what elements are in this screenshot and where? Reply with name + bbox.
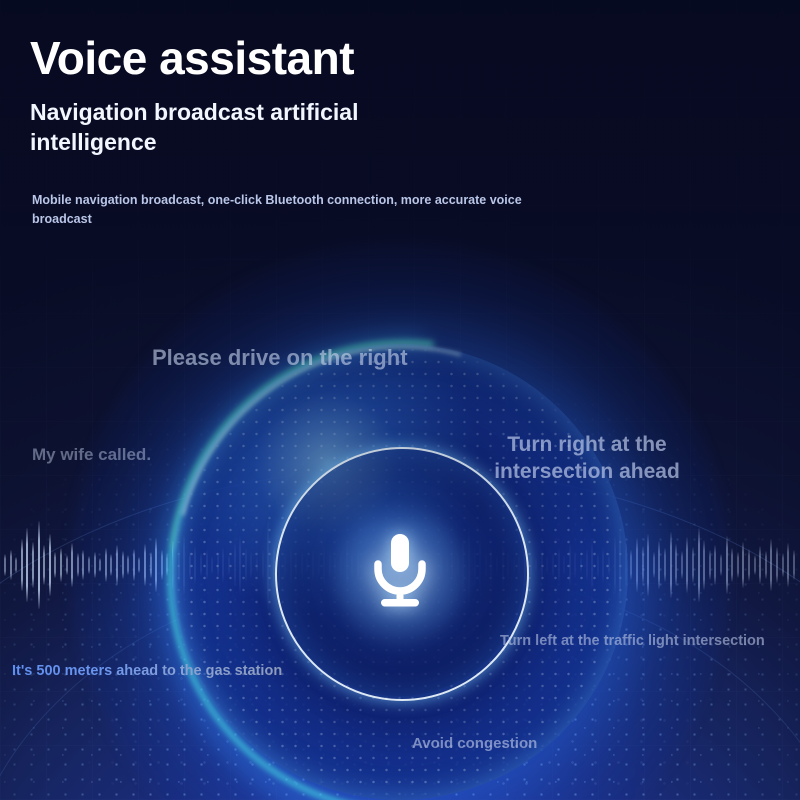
waveform-bar bbox=[194, 546, 196, 584]
waveform-bar bbox=[457, 554, 459, 576]
waveform-bar bbox=[468, 524, 470, 606]
caption-gas-station: It's 500 meters ahead to the gas station bbox=[12, 663, 282, 679]
waveform-bar bbox=[318, 554, 320, 576]
page-subtitle: Navigation broadcast artificial intellig… bbox=[30, 97, 390, 158]
waveform-bar bbox=[530, 554, 532, 576]
waveform-bar bbox=[54, 552, 56, 578]
waveform-bar bbox=[625, 543, 627, 587]
waveform-bar bbox=[161, 550, 163, 580]
waveform-bar bbox=[99, 558, 101, 572]
waveform-bar bbox=[122, 551, 124, 579]
caption-turn-left: Turn left at the traffic light intersect… bbox=[500, 633, 765, 649]
waveform-bar bbox=[726, 536, 728, 594]
caption-avoid-congestion: Avoid congestion bbox=[412, 735, 537, 752]
waveform-bar bbox=[681, 551, 683, 579]
waveform-bar bbox=[513, 557, 515, 573]
waveform-bar bbox=[462, 535, 464, 595]
waveform-bar bbox=[602, 547, 604, 583]
waveform-bar bbox=[200, 554, 202, 576]
waveform-bar bbox=[306, 557, 308, 573]
waveform-bar bbox=[686, 537, 688, 593]
waveform-bar bbox=[535, 558, 537, 572]
waveform-bar bbox=[440, 551, 442, 579]
waveform-right bbox=[0, 500, 800, 630]
waveform-bar bbox=[793, 550, 795, 580]
waveform-bar bbox=[273, 544, 275, 586]
caption-drive-right: Please drive on the right bbox=[152, 345, 408, 371]
waveform-bar bbox=[357, 549, 359, 581]
waveform-bar bbox=[312, 548, 314, 582]
caption-wife-called: My wife called. bbox=[32, 445, 151, 465]
waveform-bar bbox=[720, 554, 722, 576]
waveform-bar bbox=[43, 545, 45, 585]
waveform-bar bbox=[172, 541, 174, 589]
waveform-bar bbox=[217, 552, 219, 578]
waveform-bar bbox=[189, 551, 191, 579]
waveform-bar bbox=[490, 547, 492, 583]
waveform-bar bbox=[256, 557, 258, 573]
waveform-bar bbox=[150, 552, 152, 578]
waveform-bar bbox=[591, 542, 593, 588]
particle-globe-field bbox=[0, 352, 800, 800]
waveform-bar bbox=[77, 553, 79, 577]
voice-assistant-banner: Please drive on the right My wife called… bbox=[0, 0, 800, 800]
waveform-bar bbox=[323, 545, 325, 585]
waveform-bar bbox=[284, 553, 286, 577]
waveform-bar bbox=[234, 543, 236, 587]
waveform-bar bbox=[546, 556, 548, 574]
waveform-bar bbox=[60, 548, 62, 582]
waveform-bar bbox=[4, 554, 6, 576]
waveform-bar bbox=[541, 550, 543, 580]
waveform-bar bbox=[658, 541, 660, 589]
orb-rim bbox=[172, 344, 628, 800]
waveform-bar bbox=[239, 536, 241, 594]
waveform-bar bbox=[608, 555, 610, 575]
waveform-bar bbox=[569, 544, 571, 586]
waveform-bar bbox=[26, 528, 28, 602]
waveform-bar bbox=[731, 548, 733, 582]
waveform-bar bbox=[698, 528, 700, 602]
waveform-bar bbox=[15, 557, 17, 573]
waveform-bar bbox=[748, 549, 750, 581]
waveform-bar bbox=[105, 548, 107, 582]
waveform-bar bbox=[340, 550, 342, 580]
orb-crescent-highlight bbox=[72, 244, 737, 800]
waveform-bar bbox=[759, 546, 761, 584]
waveform-bar bbox=[66, 555, 68, 575]
waveform-bar bbox=[675, 544, 677, 586]
globe-arc-inner bbox=[0, 568, 800, 800]
waveform-bar bbox=[563, 555, 565, 575]
waveform-bar bbox=[524, 546, 526, 584]
microphone-icon[interactable] bbox=[368, 532, 432, 612]
waveform-bar bbox=[262, 550, 264, 580]
waveform-bar bbox=[290, 547, 292, 583]
waveform-bar bbox=[206, 550, 208, 580]
microphone-glow bbox=[332, 500, 468, 650]
waveform-bar bbox=[507, 550, 509, 580]
waveform-bar bbox=[155, 538, 157, 592]
waveform-bar bbox=[110, 554, 112, 576]
waveform-bar bbox=[647, 534, 649, 596]
waveform-bar bbox=[474, 545, 476, 585]
waveform-bar bbox=[670, 532, 672, 598]
waveform-bar bbox=[21, 539, 23, 591]
page-title: Voice assistant bbox=[30, 34, 590, 83]
header-block: Voice assistant Navigation broadcast art… bbox=[30, 34, 590, 228]
waveform-bar bbox=[737, 552, 739, 578]
waveform-bar bbox=[71, 543, 73, 587]
caption-turn-right: Turn right at the intersection ahead bbox=[487, 432, 687, 486]
waveform-bar bbox=[614, 536, 616, 594]
waveform-bar bbox=[664, 548, 666, 582]
waveform-bar bbox=[351, 553, 353, 577]
waveform-bar bbox=[245, 548, 247, 582]
waveform-bar bbox=[692, 547, 694, 583]
waveform-bar bbox=[178, 547, 180, 583]
waveform-bar bbox=[787, 543, 789, 587]
waveform-bar bbox=[574, 551, 576, 579]
waveform-bar bbox=[228, 555, 230, 575]
waveform-bar bbox=[267, 520, 269, 610]
waveform-bar bbox=[183, 535, 185, 595]
waveform-bar bbox=[451, 548, 453, 582]
waveform-bar bbox=[770, 539, 772, 591]
waveform-bar bbox=[82, 550, 84, 580]
waveform-bar bbox=[703, 540, 705, 590]
waveform-bar bbox=[32, 542, 34, 588]
waveform-bar bbox=[485, 552, 487, 578]
orb-crescent-glow bbox=[59, 231, 762, 800]
waveform-bar bbox=[211, 556, 213, 574]
waveform-bar bbox=[116, 545, 118, 585]
waveform-left bbox=[0, 500, 800, 630]
waveform-bar bbox=[49, 534, 51, 596]
waveform-bar bbox=[94, 552, 96, 578]
waveform-bar bbox=[278, 534, 280, 596]
waveform-bar bbox=[250, 552, 252, 578]
orb-outer-glow bbox=[70, 242, 730, 800]
waveform-bar bbox=[10, 550, 12, 580]
waveform-bar bbox=[558, 548, 560, 582]
waveform-bar bbox=[346, 543, 348, 587]
page-description: Mobile navigation broadcast, one-click B… bbox=[32, 191, 522, 227]
waveform-bar bbox=[714, 545, 716, 585]
waveform-bar bbox=[619, 530, 621, 600]
orb-crescent-core bbox=[91, 263, 714, 800]
waveform-bar bbox=[765, 551, 767, 579]
waveform-bar bbox=[334, 556, 336, 574]
waveform-bar bbox=[630, 550, 632, 580]
waveform-bar bbox=[597, 553, 599, 577]
waveform-bar bbox=[329, 552, 331, 578]
waveform-bar bbox=[446, 556, 448, 574]
waveform-bar bbox=[502, 543, 504, 587]
waveform-bar bbox=[133, 549, 135, 581]
waveform-bar bbox=[222, 547, 224, 583]
waveform-bar bbox=[144, 544, 146, 586]
waveform-bar bbox=[88, 556, 90, 574]
waveform-bar bbox=[586, 549, 588, 581]
waveform-bar bbox=[138, 557, 140, 573]
waveform-bar bbox=[479, 538, 481, 592]
orb-sphere bbox=[172, 344, 628, 800]
waveform-bar bbox=[518, 552, 520, 578]
waveform-bar bbox=[127, 555, 129, 575]
waveform-bar bbox=[776, 547, 778, 583]
waveform-bar bbox=[38, 521, 40, 609]
waveform-bar bbox=[636, 538, 638, 592]
waveform-bar bbox=[295, 555, 297, 575]
waveform-bar bbox=[496, 555, 498, 575]
waveform-bar bbox=[782, 553, 784, 577]
waveform-bar bbox=[754, 555, 756, 575]
waveform-bar bbox=[301, 551, 303, 579]
waveform-bar bbox=[552, 553, 554, 577]
waveform-bar bbox=[580, 557, 582, 573]
orb-particle-texture bbox=[172, 344, 628, 800]
waveform-bar bbox=[642, 546, 644, 584]
waveform-bar bbox=[742, 542, 744, 588]
waveform-bar bbox=[653, 552, 655, 578]
waveform-bar bbox=[709, 550, 711, 580]
waveform-bar bbox=[166, 554, 168, 576]
